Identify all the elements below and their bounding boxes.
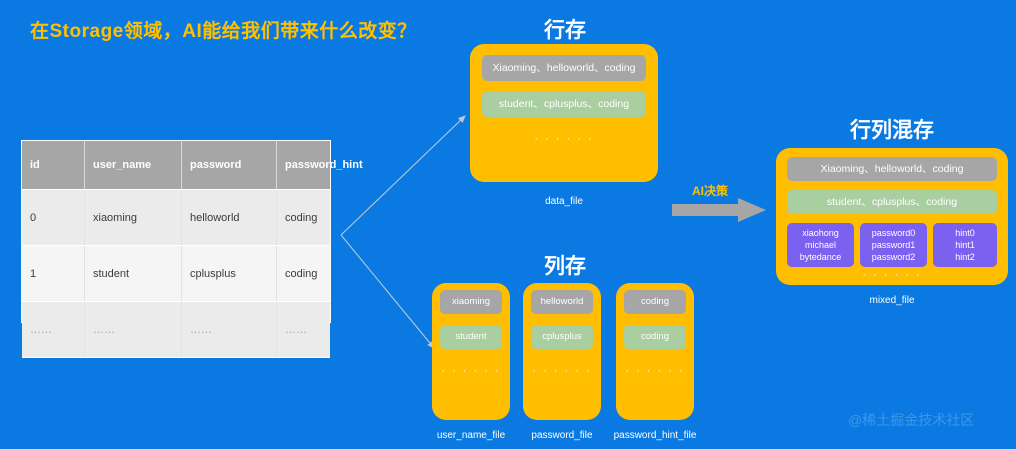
column-store-value-user-name-1: student: [440, 325, 502, 349]
column-header-user-name: user_name: [85, 141, 182, 190]
column-store-value-password-1: cplusplus: [531, 325, 593, 349]
column-store-ellipsis-password: · · · · · ·: [523, 365, 601, 377]
column-header-password: password: [182, 141, 277, 190]
cell-password: cplusplus: [182, 246, 277, 302]
cell-user-name: student: [85, 246, 182, 302]
mixed-store-row-record-0: Xiaoming、helloworld、coding: [787, 157, 997, 181]
cell-id: ……: [22, 302, 85, 358]
column-store-file-label-password-hint: password_hint_file: [592, 430, 718, 441]
row-store-record-1: student、cplusplus、coding: [482, 91, 646, 117]
column-store-value-user-name-0: xiaoming: [440, 290, 502, 314]
column-header-password-hint: password_hint: [277, 141, 331, 190]
cell-password: helloworld: [182, 190, 277, 246]
mixed-store-title: 行列混存: [776, 114, 1008, 144]
row-store-file-label: data_file: [470, 196, 658, 207]
cell-password: ……: [182, 302, 277, 358]
table-row: …… …… …… ……: [22, 302, 330, 358]
row-store-ellipsis: · · · · · ·: [482, 133, 646, 145]
column-store-ellipsis-password-hint: · · · · · ·: [616, 365, 694, 377]
column-store-value-password-hint-1: coding: [624, 325, 686, 349]
cell-id: 0: [22, 190, 85, 246]
cell-password-hint: coding: [277, 246, 331, 302]
cell-user-name: ……: [85, 302, 182, 358]
arrow-to-column-store: [341, 235, 434, 348]
row-store-record-0: Xiaoming、helloworld、coding: [482, 55, 646, 81]
mixed-store-column-group-1: password0password1password2: [860, 223, 927, 267]
column-store-title: 列存: [470, 250, 660, 280]
table-row: 0 xiaoming helloworld coding: [22, 190, 330, 246]
mixed-store-column-group-2: hint0hint1hint2: [933, 223, 997, 267]
watermark: @稀土掘金技术社区: [848, 410, 974, 430]
table-header-row: id user_name password password_hint: [22, 141, 330, 190]
cell-password-hint: coding: [277, 190, 331, 246]
mixed-store-ellipsis: · · · · · ·: [787, 269, 997, 281]
cell-user-name: xiaoming: [85, 190, 182, 246]
column-store-ellipsis-user-name: · · · · · ·: [432, 365, 510, 377]
column-store-value-password-hint-0: coding: [624, 290, 686, 314]
source-table: id user_name password password_hint 0 xi…: [22, 141, 330, 322]
arrow-to-row-store: [341, 116, 465, 235]
mixed-store-file-label: mixed_file: [776, 295, 1008, 306]
table-row: 1 student cplusplus coding: [22, 246, 330, 302]
ai-decision-label: AI决策: [692, 182, 728, 199]
ai-decision-arrow-icon: [672, 198, 768, 224]
row-store-title: 行存: [470, 14, 660, 44]
mixed-store-column-group-0: xiaohongmichaelbytedance: [787, 223, 854, 267]
cell-id: 1: [22, 246, 85, 302]
cell-password-hint: ……: [277, 302, 331, 358]
mixed-store-row-record-1: student、cplusplus、coding: [787, 190, 997, 214]
slide-canvas: 在Storage领域，AI能给我们带来什么改变？ id user_name pa…: [0, 0, 1016, 449]
column-store-value-password-0: helloworld: [531, 290, 593, 314]
column-header-id: id: [22, 141, 85, 190]
